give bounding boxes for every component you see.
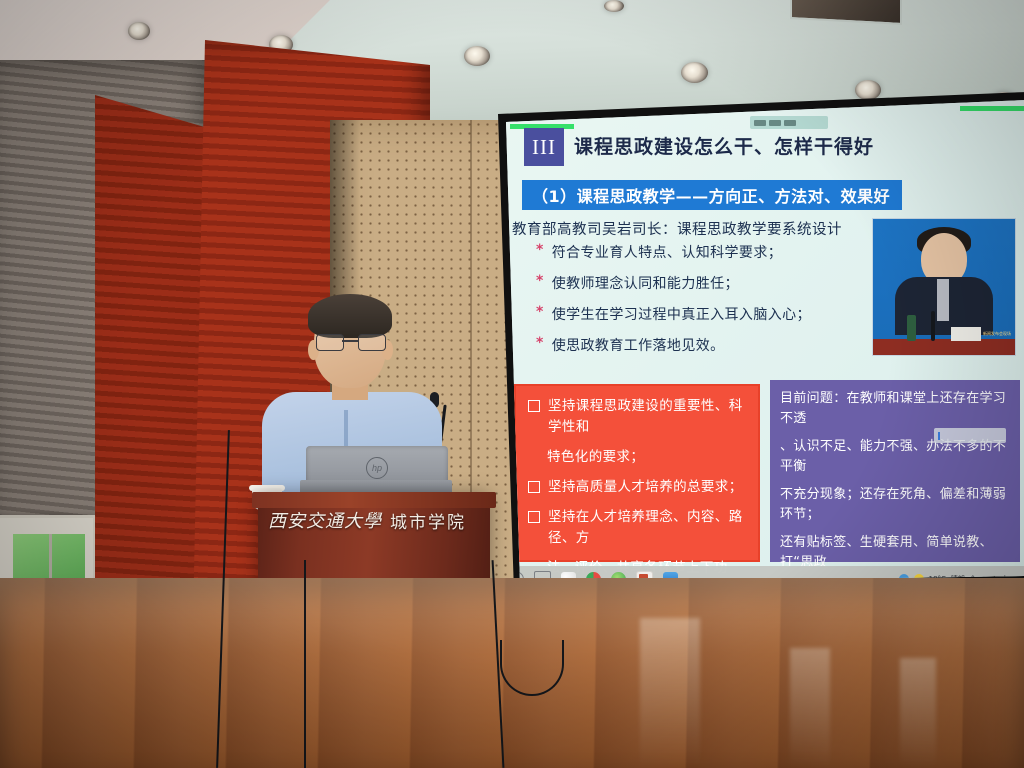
- purple-box-line: 目前问题：在教师和课堂上还存在学习不透: [780, 389, 1010, 428]
- red-box-line: 坚持高质量人才培养的总要求；: [528, 477, 746, 498]
- ceiling-downlight: [681, 62, 708, 83]
- panel-seam: [470, 120, 472, 520]
- ceiling-downlight: [464, 46, 490, 66]
- floating-toolbar-overlay[interactable]: [750, 116, 828, 129]
- photo-bottle: [907, 315, 916, 341]
- purple-box-line: 不充分现象；还存在死角、偏差和薄弱环节；: [780, 485, 1010, 524]
- red-box-line: 坚持课程思政建设的重要性、科学性和: [528, 396, 746, 438]
- slide-photo-official: 新闻发布会现场: [872, 218, 1016, 356]
- bullet-text: 符合专业育人特点、认知科学要求；: [552, 242, 782, 262]
- red-box-line: 坚持在人才培养理念、内容、路径、方: [528, 507, 746, 549]
- slide-subsection-bar: （1）课程思政教学——方向正、方法对、效果好: [522, 180, 902, 210]
- slide-purple-box: 目前问题：在教师和课堂上还存在学习不透 、认识不足、能力不强、办法不多的不平衡 …: [770, 380, 1020, 562]
- photo-papers: [951, 327, 981, 341]
- podium-sign-college: 城市学院: [390, 508, 466, 533]
- floor-reflection: [640, 618, 700, 768]
- photo-tie: [937, 279, 949, 321]
- toolbar-button-icon[interactable]: [754, 120, 766, 126]
- ceiling-downlight: [128, 22, 150, 40]
- red-box-text: 坚持课程思政建设的重要性、科学性和: [548, 396, 746, 438]
- bullet-star-icon: *: [536, 273, 544, 293]
- slide-red-box: 坚持课程思政建设的重要性、科学性和 特色化的要求； 坚持高质量人才培养的总要求；…: [514, 384, 760, 562]
- ceiling-downlight: [604, 0, 624, 12]
- bullet-text: 使教师理念认同和能力胜任；: [552, 273, 739, 293]
- slide-content: III 课程思政建设怎么干、怎样干得好 （1）课程思政教学——方向正、方法对、效…: [474, 92, 1024, 592]
- red-box-text: 特色化的要求；: [547, 447, 644, 468]
- bullet-text: 使思政教育工作落地见效。: [552, 335, 725, 355]
- red-box-line: 特色化的要求；: [528, 447, 746, 468]
- bullet-text: 使学生在学习过程中真正入耳入脑入心；: [552, 304, 811, 324]
- square-bullet-icon: [528, 511, 540, 523]
- toast-accent-bar: [938, 432, 940, 440]
- ceiling-downlight: [855, 80, 881, 100]
- red-box-text: 坚持高质量人才培养的总要求；: [548, 477, 743, 498]
- cable: [304, 560, 306, 768]
- bullet-star-icon: *: [536, 242, 544, 262]
- square-bullet-icon: [528, 481, 540, 493]
- floor-reflection: [790, 648, 830, 768]
- toolbar-button-icon[interactable]: [769, 120, 781, 126]
- toast-notification[interactable]: [934, 428, 1006, 443]
- slide-section-badge: III: [524, 128, 564, 166]
- speaker-hair: [308, 294, 392, 338]
- photo-caption: 新闻发布会现场: [983, 331, 1011, 337]
- podium-sign-university: 西安交通大學: [268, 507, 382, 533]
- slide-lead-line: 教育部高教司吴岩司长：课程思政教学要系统设计: [512, 218, 912, 239]
- lecture-hall-photo: III 课程思政建设怎么干、怎样干得好 （1）课程思政教学——方向正、方法对、效…: [0, 0, 1024, 768]
- floor-reflection: [900, 658, 936, 768]
- bullet-star-icon: *: [536, 304, 544, 324]
- photo-microphone-icon: [931, 311, 935, 341]
- hp-logo-icon: hp: [366, 457, 388, 479]
- projection-screen[interactable]: III 课程思政建设怎么干、怎样干得好 （1）课程思政教学——方向正、方法对、效…: [474, 92, 1024, 592]
- slide-section-title: 课程思政建设怎么干、怎样干得好: [574, 132, 974, 159]
- photo-desk: [873, 339, 1015, 355]
- toolbar-button-icon[interactable]: [784, 120, 796, 126]
- glasses-icon: [316, 334, 384, 350]
- square-bullet-icon: [528, 400, 540, 412]
- podium-sign: 西安交通大學 城市学院: [268, 505, 484, 535]
- bullet-star-icon: *: [536, 335, 544, 355]
- toast-text: [943, 432, 945, 439]
- red-box-text: 坚持在人才培养理念、内容、路径、方: [548, 507, 746, 549]
